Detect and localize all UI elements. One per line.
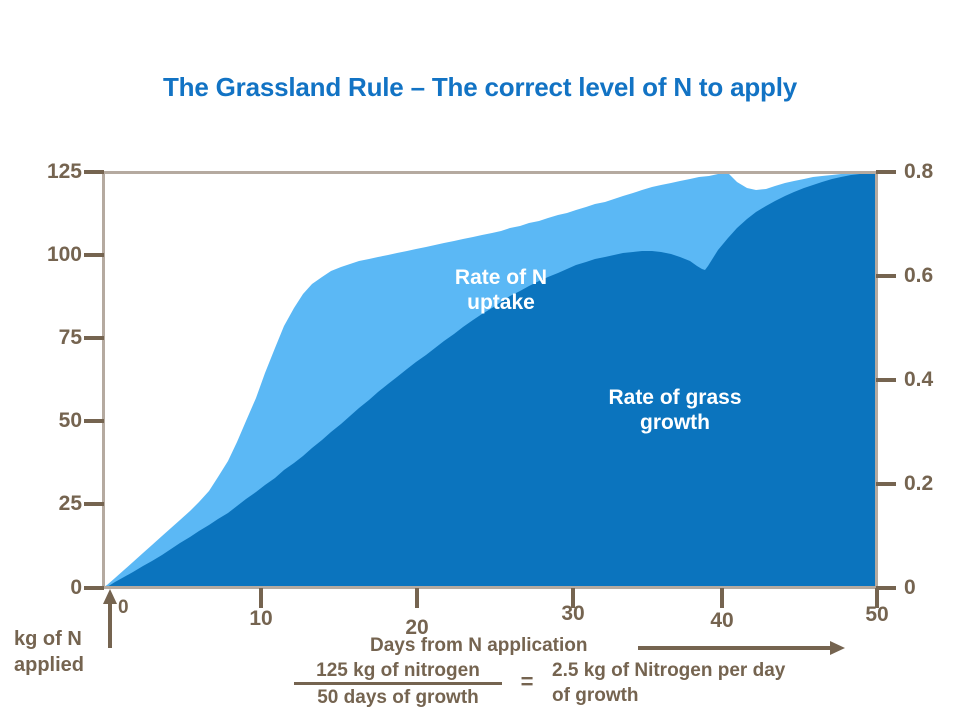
fraction-denominator: 50 days of growth — [288, 686, 508, 711]
x-axis-tick-40: 40 — [692, 609, 752, 633]
chart-plot-area — [0, 0, 960, 720]
y-axis-right-tick-0: 0 — [904, 576, 960, 600]
x-axis-tick-50: 50 — [847, 603, 907, 627]
days-direction-arrow-icon — [638, 641, 845, 655]
fraction-numerator: 125 kg of nitrogen — [288, 659, 508, 684]
x-axis-tick-0: 0 — [118, 596, 129, 621]
y-axis-left-tick-75: 75 — [22, 326, 82, 350]
y-axis-right-ticks — [876, 172, 896, 588]
y-axis-left-tick-25: 25 — [22, 492, 82, 516]
y-axis-right-tick-0-2: 0.2 — [904, 472, 960, 496]
x-axis-title-days-from-n-application: Days from N application — [370, 634, 630, 659]
y-axis-title-kg-of-n-applied: kg of N applied — [14, 626, 134, 678]
y-axis-left-tick-50: 50 — [22, 409, 82, 433]
y-axis-left-tick-125: 125 — [22, 160, 82, 184]
y-axis-left-tick-100: 100 — [22, 243, 82, 267]
series-label-rate-of-n-uptake: Rate of N uptake — [396, 266, 606, 316]
y-axis-left-tick-0: 0 — [22, 576, 82, 600]
y-axis-left-ticks — [84, 172, 104, 588]
chart-page: The Grassland Rule – The correct level o… — [0, 0, 960, 720]
equals-sign: = — [512, 668, 542, 697]
calculation-result: 2.5 kg of Nitrogen per day of growth — [552, 659, 952, 708]
y-axis-right-tick-0-8: 0.8 — [904, 160, 960, 184]
fraction-bar — [294, 682, 502, 685]
series-label-rate-of-grass-growth: Rate of grass growth — [560, 386, 790, 436]
y-axis-right-tick-0-6: 0.6 — [904, 264, 960, 288]
x-axis-tick-30: 30 — [543, 602, 603, 626]
x-axis-tick-10: 10 — [231, 607, 291, 631]
y-axis-right-tick-0-4: 0.4 — [904, 368, 960, 392]
